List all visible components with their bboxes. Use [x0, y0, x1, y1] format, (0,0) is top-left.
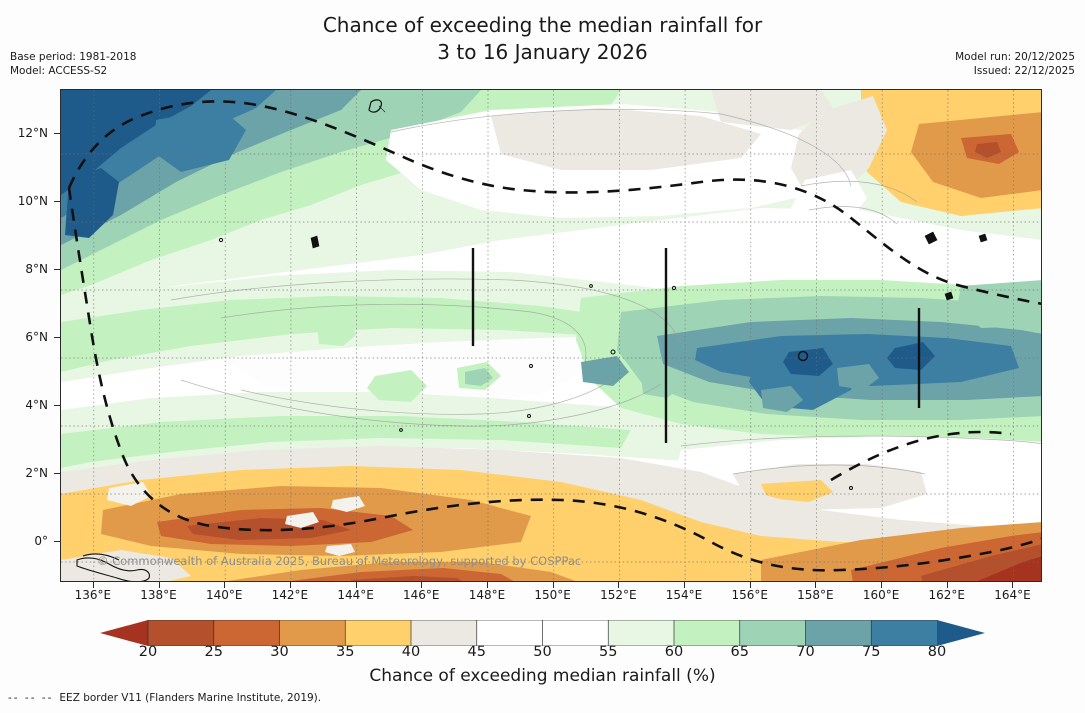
- colorbar-band[interactable]: [148, 620, 214, 646]
- colorbar-tick-label: 35: [336, 644, 354, 660]
- y-axis-tick-label: 4°N: [25, 398, 48, 412]
- colorbar-tick-label: 65: [731, 644, 749, 660]
- header-right-meta: Model run: 20/12/2025 Issued: 22/12/2025: [955, 50, 1075, 78]
- colorbar-band[interactable]: [477, 620, 543, 646]
- x-axis-tick-mark: [815, 582, 816, 588]
- y-axis-tick-label: 10°N: [18, 194, 48, 208]
- colorbar-band[interactable]: [674, 620, 740, 646]
- y-axis-tick-mark: [54, 337, 60, 338]
- x-axis-tick-mark: [553, 582, 554, 588]
- x-axis-tick-mark: [1012, 582, 1013, 588]
- x-axis-tick-mark: [750, 582, 751, 588]
- colorbar-tick-label: 80: [928, 644, 946, 660]
- colorbar-band[interactable]: [608, 620, 674, 646]
- issued-text: Issued: 22/12/2025: [955, 64, 1075, 78]
- x-axis-tick-mark: [947, 582, 948, 588]
- colorbar-tick-label: 75: [862, 644, 880, 660]
- colorbar-band[interactable]: [345, 620, 411, 646]
- colorbar-tick-label: 20: [139, 644, 157, 660]
- x-axis-tick-label: 148°E: [469, 588, 506, 602]
- x-axis-tick-mark: [421, 582, 422, 588]
- colorbar-band[interactable]: [543, 620, 609, 646]
- x-axis-tick-label: 152°E: [600, 588, 637, 602]
- colorbar-band[interactable]: [411, 620, 477, 646]
- page-title: Chance of exceeding the median rainfall …: [0, 12, 1085, 66]
- y-axis-tick-mark: [54, 473, 60, 474]
- colorbar-tick-label: 70: [796, 644, 814, 660]
- colorbar-tick-label: 50: [533, 644, 551, 660]
- x-axis-tick-mark: [618, 582, 619, 588]
- y-axis-tick-label: 12°N: [18, 126, 48, 140]
- x-axis-tick-mark: [290, 582, 291, 588]
- header-left-meta: Base period: 1981-2018 Model: ACCESS-S2: [10, 50, 136, 78]
- x-axis-tick-mark: [356, 582, 357, 588]
- x-axis-tick-label: 156°E: [731, 588, 768, 602]
- x-axis-tick-mark: [881, 582, 882, 588]
- y-axis-tick-label: 0°: [34, 534, 48, 548]
- x-axis-tick-label: 146°E: [403, 588, 440, 602]
- x-axis-tick-mark: [684, 582, 685, 588]
- x-axis-tick-label: 158°E: [797, 588, 834, 602]
- x-axis-tick-label: 154°E: [666, 588, 703, 602]
- colorbar-gradient: [100, 620, 985, 646]
- eez-dash-sample: -- -- --: [8, 692, 53, 704]
- colorbar-band[interactable]: [280, 620, 346, 646]
- x-axis-tick-label: 144°E: [337, 588, 374, 602]
- model-run-text: Model run: 20/12/2025: [955, 50, 1075, 64]
- title-line-2: 3 to 16 January 2026: [437, 40, 647, 64]
- colorbar-tick-label: 55: [599, 644, 617, 660]
- y-axis-tick-mark: [54, 201, 60, 202]
- footer-text: EEZ border V11 (Flanders Marine Institut…: [59, 692, 321, 704]
- colorbar-band[interactable]: [806, 620, 872, 646]
- x-axis-tick-mark: [487, 582, 488, 588]
- colorbar-over-arrow: [937, 620, 985, 646]
- map-plot-area[interactable]: © Commonwealth of Australia 2025, Bureau…: [60, 89, 1042, 582]
- y-axis-tick-label: 6°N: [25, 330, 48, 344]
- y-axis-tick-mark: [54, 133, 60, 134]
- colorbar[interactable]: [100, 620, 985, 646]
- colorbar-tick-label: 30: [270, 644, 288, 660]
- y-axis-tick-mark: [54, 269, 60, 270]
- x-axis-tick-mark: [159, 582, 160, 588]
- colorbar-tick-label: 45: [468, 644, 486, 660]
- colorbar-band[interactable]: [214, 620, 280, 646]
- y-axis-tick-label: 8°N: [25, 262, 48, 276]
- x-axis-tick-mark: [93, 582, 94, 588]
- x-axis-tick-label: 162°E: [929, 588, 966, 602]
- x-axis-tick-label: 138°E: [140, 588, 177, 602]
- x-axis-tick-label: 140°E: [206, 588, 243, 602]
- colorbar-tick-label: 25: [205, 644, 223, 660]
- footer-legend: -- -- -- EEZ border V11 (Flanders Marine…: [8, 692, 321, 704]
- x-axis-tick-label: 150°E: [534, 588, 571, 602]
- colorbar-under-arrow: [100, 620, 148, 646]
- model-text: Model: ACCESS-S2: [10, 64, 136, 78]
- colorbar-tick-label: 40: [402, 644, 420, 660]
- x-axis-tick-label: 164°E: [994, 588, 1031, 602]
- colorbar-band[interactable]: [871, 620, 937, 646]
- x-axis-tick-label: 136°E: [75, 588, 112, 602]
- colorbar-band[interactable]: [740, 620, 806, 646]
- colorbar-label: Chance of exceeding median rainfall (%): [0, 666, 1085, 686]
- title-line-1: Chance of exceeding the median rainfall …: [323, 13, 762, 37]
- y-axis-tick-label: 2°N: [25, 466, 48, 480]
- colorbar-tick-label: 60: [665, 644, 683, 660]
- y-axis-tick-mark: [54, 541, 60, 542]
- x-axis-tick-label: 142°E: [272, 588, 309, 602]
- rainfall-contour-map: [61, 90, 1042, 582]
- y-axis-tick-mark: [54, 405, 60, 406]
- x-axis-tick-mark: [224, 582, 225, 588]
- base-period-text: Base period: 1981-2018: [10, 50, 136, 64]
- x-axis-tick-label: 160°E: [863, 588, 900, 602]
